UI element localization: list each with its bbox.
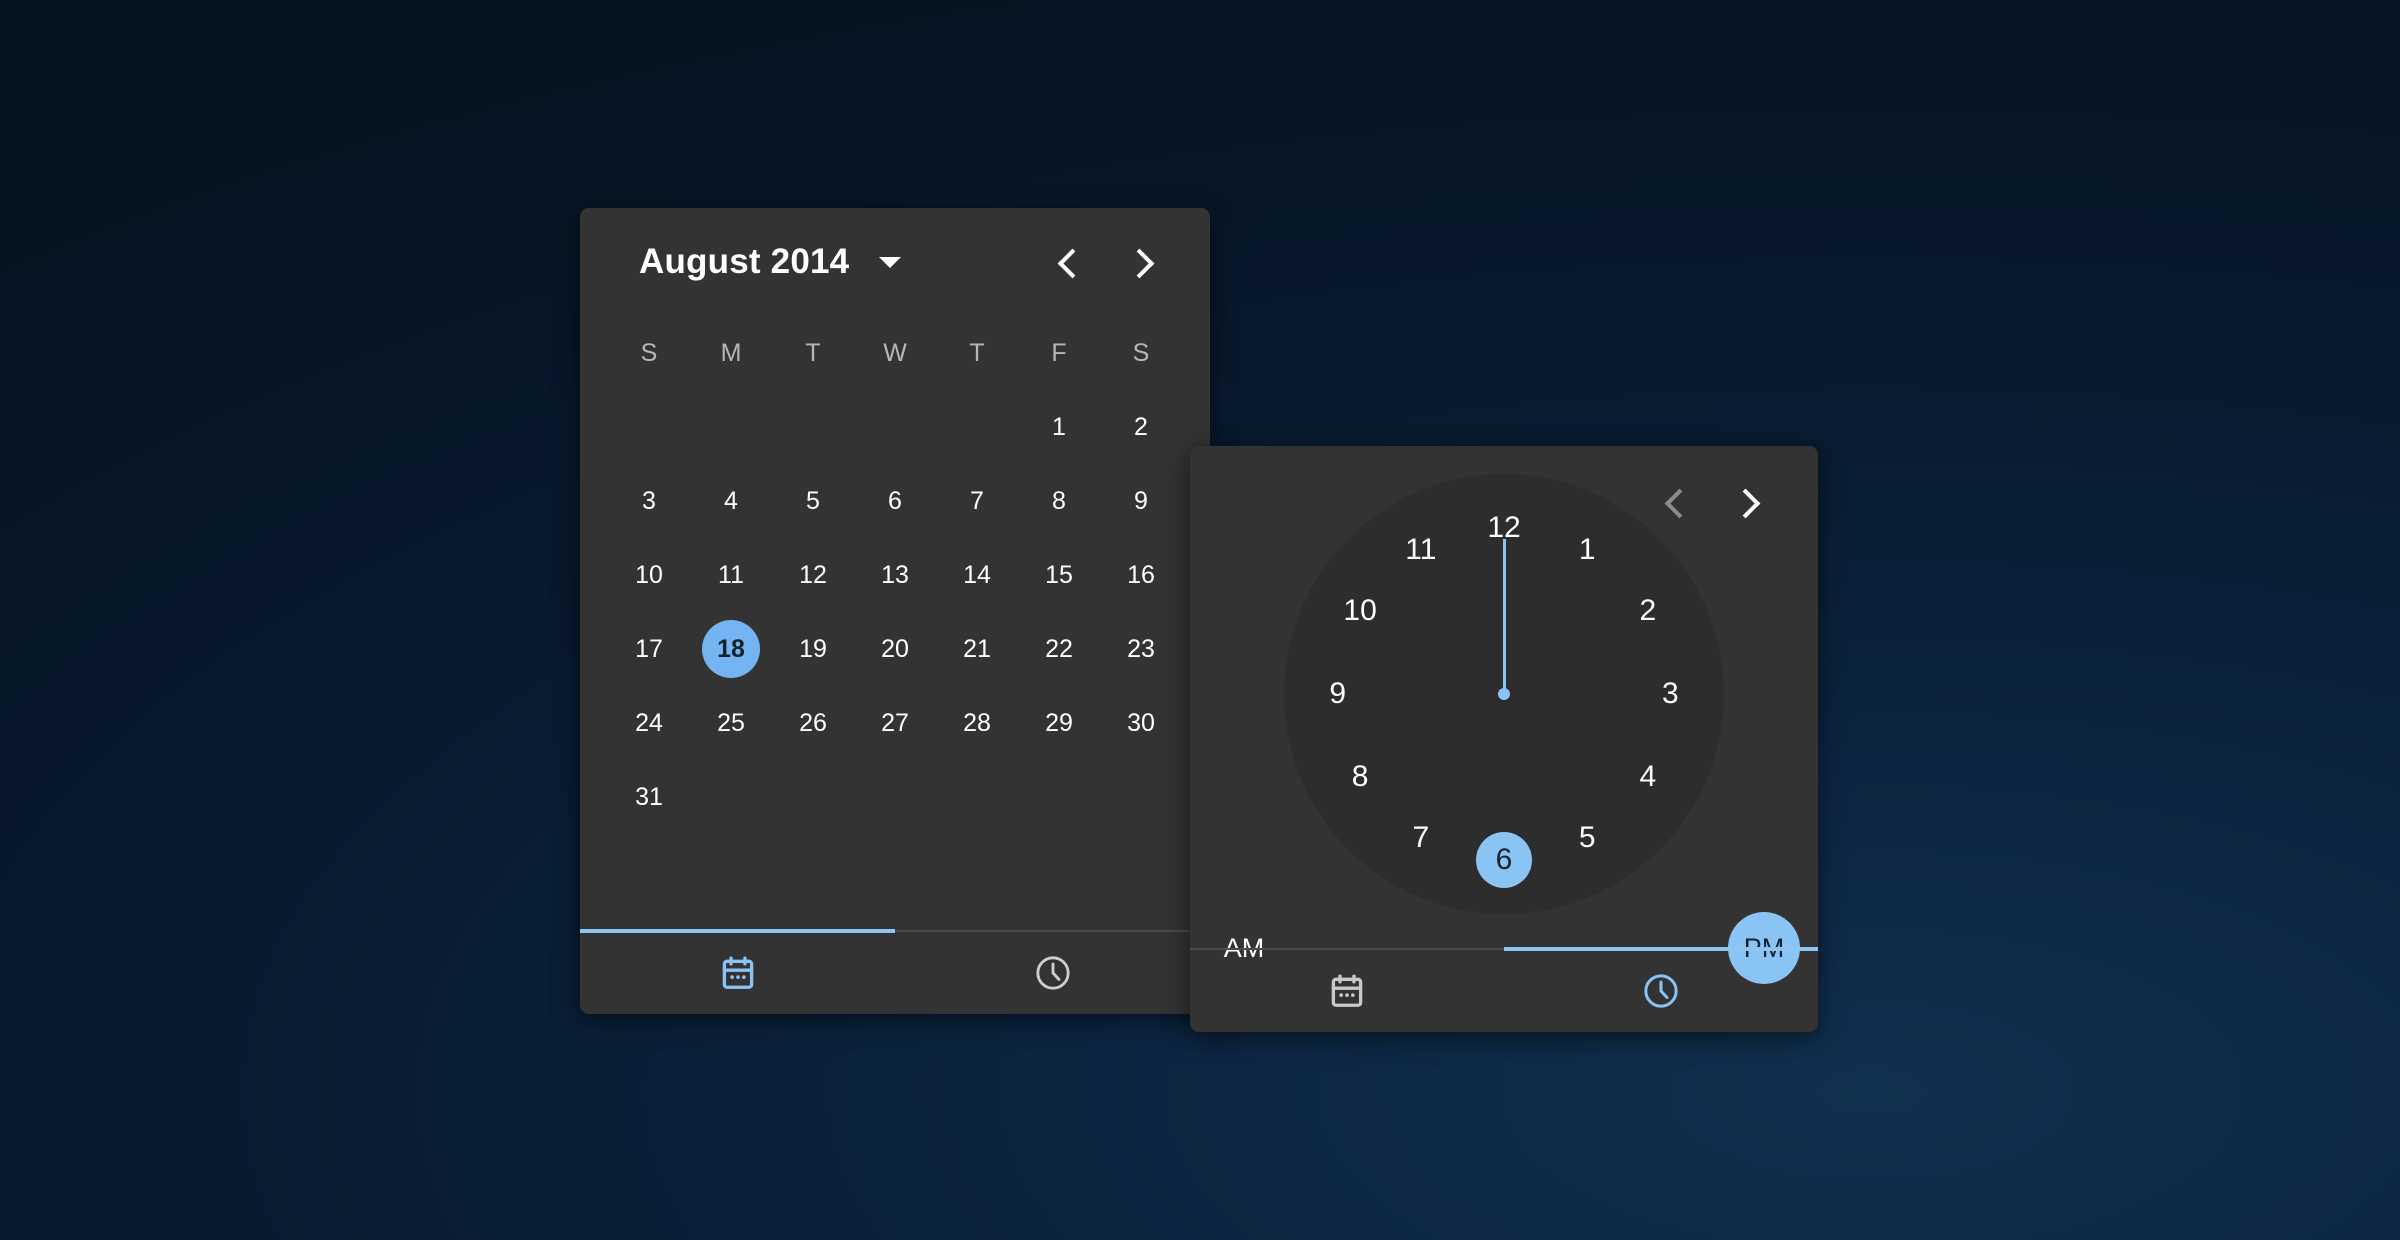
- hour-7[interactable]: 7: [1393, 810, 1449, 866]
- month-year-label[interactable]: August 2014: [639, 242, 849, 282]
- day-cell[interactable]: 29: [1030, 694, 1088, 752]
- calendar-icon: [719, 953, 757, 993]
- weekday-label: T: [805, 339, 820, 368]
- day-cell[interactable]: 16: [1112, 546, 1170, 604]
- day-cell[interactable]: 8: [1030, 472, 1088, 530]
- day-cell: [866, 398, 924, 456]
- time-picker-tabbar: [1190, 948, 1818, 1032]
- hour-10[interactable]: 10: [1332, 583, 1388, 639]
- hour-5[interactable]: 5: [1559, 810, 1615, 866]
- weekday-label: T: [969, 339, 984, 368]
- hour-11[interactable]: 11: [1393, 522, 1449, 578]
- calendar-grid: S M T W T F S 1 2 3 4 5 6 7 8 9 10: [580, 316, 1210, 834]
- day-cell[interactable]: 20: [866, 620, 924, 678]
- day-cell: [866, 768, 924, 826]
- hour-1[interactable]: 1: [1559, 522, 1615, 578]
- clock-center-dot: [1498, 688, 1510, 700]
- day-cell: [702, 768, 760, 826]
- day-cell[interactable]: 5: [784, 472, 842, 530]
- weekday-label: M: [721, 339, 742, 368]
- day-cell-selected[interactable]: 18: [702, 620, 760, 678]
- day-cell[interactable]: 13: [866, 546, 924, 604]
- date-picker-dialog: August 2014 S M T W T F S 1 2 3 4: [580, 208, 1210, 1014]
- day-cell[interactable]: 24: [620, 694, 678, 752]
- hour-9[interactable]: 9: [1310, 666, 1366, 722]
- weekday-label: F: [1051, 339, 1066, 368]
- day-cell: [948, 768, 1006, 826]
- clock-icon: [1641, 971, 1681, 1011]
- clock-hand: [1503, 539, 1506, 694]
- day-cell[interactable]: 27: [866, 694, 924, 752]
- day-cell[interactable]: 31: [620, 768, 678, 826]
- hour-8[interactable]: 8: [1332, 749, 1388, 805]
- day-cell[interactable]: 26: [784, 694, 842, 752]
- day-cell: [948, 398, 1006, 456]
- day-cell[interactable]: 28: [948, 694, 1006, 752]
- clock-dial[interactable]: 12 1 2 3 4 5 6 7 8 9 10 11: [1284, 474, 1724, 914]
- tab-time[interactable]: [895, 932, 1210, 1014]
- day-cell[interactable]: 15: [1030, 546, 1088, 604]
- day-cell[interactable]: 1: [1030, 398, 1088, 456]
- time-nav: [1659, 485, 1766, 519]
- month-nav: [1052, 245, 1160, 279]
- time-picker-dialog: 12 1 2 3 4 5 6 7 8 9 10 11 AM PM: [1190, 446, 1818, 1032]
- hour-6-selected[interactable]: 6: [1476, 832, 1532, 888]
- weekday-header-row: S M T W T F S: [608, 316, 1182, 390]
- tab-date[interactable]: [580, 932, 895, 1014]
- active-tab-indicator: [580, 929, 895, 933]
- day-cell[interactable]: 10: [620, 546, 678, 604]
- day-cell: [784, 768, 842, 826]
- day-cell[interactable]: 12: [784, 546, 842, 604]
- day-cell[interactable]: 30: [1112, 694, 1170, 752]
- hour-2[interactable]: 2: [1620, 583, 1676, 639]
- day-cell[interactable]: 22: [1030, 620, 1088, 678]
- day-cell[interactable]: 7: [948, 472, 1006, 530]
- calendar-week-row: 24 25 26 27 28 29 30: [608, 686, 1182, 760]
- day-cell[interactable]: 3: [620, 472, 678, 530]
- calendar-week-row: 1 2: [608, 390, 1182, 464]
- weekday-label: W: [883, 339, 907, 368]
- day-cell[interactable]: 14: [948, 546, 1006, 604]
- day-cell[interactable]: 19: [784, 620, 842, 678]
- active-tab-indicator: [1504, 947, 1818, 951]
- next-time-button[interactable]: [1732, 485, 1766, 519]
- tab-date[interactable]: [1190, 950, 1504, 1032]
- calendar-week-row: 31: [608, 760, 1182, 834]
- day-cell[interactable]: 6: [866, 472, 924, 530]
- calendar-week-row: 10 11 12 13 14 15 16: [608, 538, 1182, 612]
- tab-time[interactable]: [1504, 950, 1818, 1032]
- day-cell: [620, 398, 678, 456]
- day-cell[interactable]: 25: [702, 694, 760, 752]
- day-cell[interactable]: 11: [702, 546, 760, 604]
- weekday-label: S: [641, 339, 658, 368]
- day-cell[interactable]: 21: [948, 620, 1006, 678]
- clock-icon: [1033, 953, 1073, 993]
- day-cell: [784, 398, 842, 456]
- hour-3[interactable]: 3: [1642, 666, 1698, 722]
- day-cell: [1030, 768, 1088, 826]
- hour-4[interactable]: 4: [1620, 749, 1676, 805]
- date-picker-header: August 2014: [580, 208, 1210, 316]
- day-cell[interactable]: 2: [1112, 398, 1170, 456]
- day-cell: [702, 398, 760, 456]
- previous-month-button[interactable]: [1052, 245, 1086, 279]
- day-cell[interactable]: 17: [620, 620, 678, 678]
- day-cell[interactable]: 23: [1112, 620, 1170, 678]
- next-month-button[interactable]: [1126, 245, 1160, 279]
- day-cell[interactable]: 4: [702, 472, 760, 530]
- calendar-week-row: 3 4 5 6 7 8 9: [608, 464, 1182, 538]
- calendar-icon: [1328, 971, 1366, 1011]
- weekday-label: S: [1133, 339, 1150, 368]
- chevron-down-icon[interactable]: [879, 257, 901, 268]
- date-picker-tabbar: [580, 930, 1210, 1014]
- day-cell[interactable]: 9: [1112, 472, 1170, 530]
- hour-12[interactable]: 12: [1476, 500, 1532, 556]
- calendar-week-row: 17 18 19 20 21 22 23: [608, 612, 1182, 686]
- previous-time-button[interactable]: [1659, 485, 1693, 519]
- day-cell: [1112, 768, 1170, 826]
